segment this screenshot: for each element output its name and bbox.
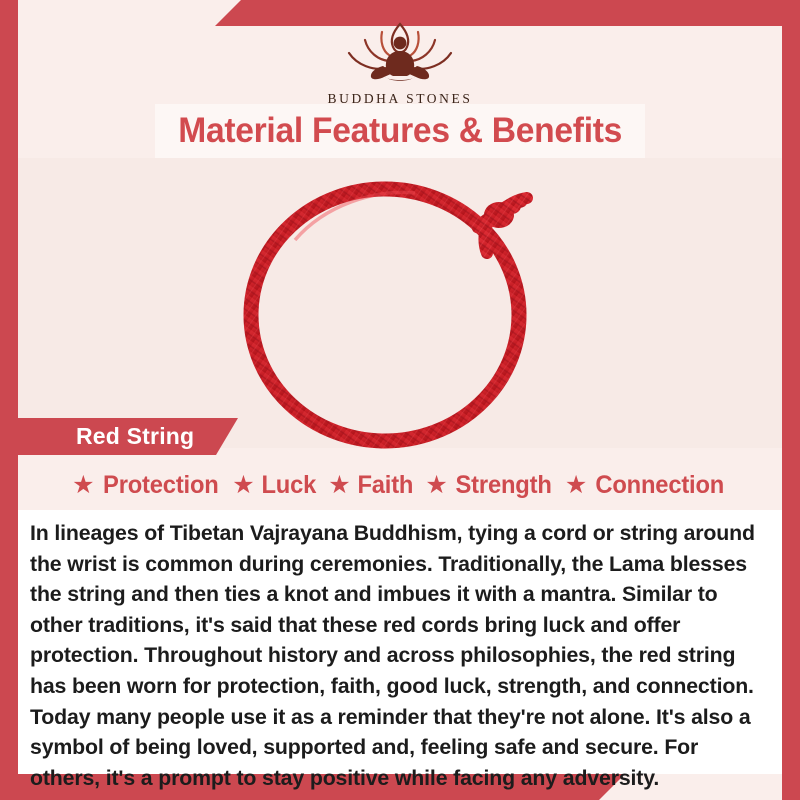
- star-icon: ★: [328, 473, 350, 498]
- feature-item-protection: ★ Protection: [72, 471, 221, 500]
- feature-label: Protection: [103, 471, 219, 500]
- product-name-label: Red String: [18, 423, 194, 450]
- feature-label: Strength: [455, 471, 551, 500]
- feature-label: Connection: [596, 471, 725, 500]
- lotus-meditation-icon: [295, 16, 505, 88]
- feature-item-connection: ★ Connection: [565, 471, 728, 500]
- feature-list: ★ Protection ★ Luck ★ Faith ★ Strength ★…: [18, 462, 782, 508]
- brand-logo: BUDDHA STONES: [295, 16, 505, 107]
- star-icon: ★: [232, 473, 254, 498]
- feature-item-faith: ★ Faith: [328, 471, 414, 500]
- poster-canvas: BUDDHA STONES Material Features & Benefi…: [0, 0, 800, 800]
- product-name-ribbon: Red String: [18, 418, 238, 455]
- star-icon: ★: [72, 473, 94, 498]
- product-image: [0, 160, 800, 455]
- page-title: Material Features & Benefits: [178, 111, 622, 151]
- star-icon: ★: [425, 473, 447, 498]
- page-title-band: Material Features & Benefits: [155, 104, 645, 158]
- brand-name: BUDDHA STONES: [295, 91, 505, 107]
- star-icon: ★: [565, 473, 587, 498]
- feature-label: Faith: [357, 471, 413, 500]
- feature-label: Luck: [261, 471, 316, 500]
- feature-item-luck: ★ Luck: [232, 471, 317, 500]
- description-panel: In lineages of Tibetan Vajrayana Buddhis…: [18, 510, 782, 774]
- feature-item-strength: ★ Strength: [425, 471, 554, 500]
- description-text: In lineages of Tibetan Vajrayana Buddhis…: [30, 518, 768, 793]
